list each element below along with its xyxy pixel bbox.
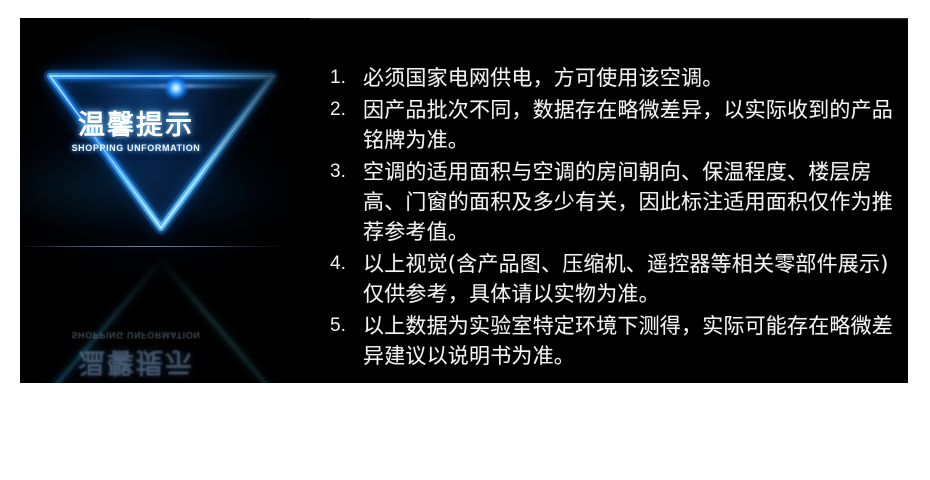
notice-number: 1. <box>325 63 363 93</box>
notice-number: 5. <box>325 311 363 341</box>
notice-text: 因产品批次不同，数据存在略微差异，以实际收到的产品铭牌为准。 <box>363 95 905 155</box>
logo-subtitle: SHOPPING UNFORMATION <box>20 144 310 153</box>
notice-text: 以上视觉(含产品图、压缩机、遥控器等相关零部件展示)仅供参考，具体请以实物为准。 <box>363 249 905 309</box>
notice-text: 必须国家电网供电，方可使用该空调。 <box>363 63 905 93</box>
notice-number: 2. <box>325 95 363 125</box>
notice-number: 4. <box>325 249 363 279</box>
notice-item: 4. 以上视觉(含产品图、压缩机、遥控器等相关零部件展示)仅供参考，具体请以实物… <box>325 249 905 309</box>
page-root: 温馨提示 SHOPPING UNFORMATION <box>0 0 930 480</box>
notice-item: 2. 因产品批次不同，数据存在略微差异，以实际收到的产品铭牌为准。 <box>325 95 905 155</box>
logo-title: 温馨提示 <box>20 112 310 139</box>
notice-item: 3. 空调的适用面积与空调的房间朝向、保温程度、楼层房高、门窗的面积及多少有关，… <box>325 157 905 247</box>
notice-text: 空调的适用面积与空调的房间朝向、保温程度、楼层房高、门窗的面积及多少有关，因此标… <box>363 157 905 247</box>
notice-item: 5. 以上数据为实验室特定环境下测得，实际可能存在略微差异建议以说明书为准。 <box>325 311 905 371</box>
notice-list: 1. 必须国家电网供电，方可使用该空调。 2. 因产品批次不同，数据存在略微差异… <box>325 63 905 373</box>
logo-title-reflection: 温馨提示 <box>20 348 310 375</box>
notice-banner: 温馨提示 SHOPPING UNFORMATION <box>20 18 908 383</box>
notice-text: 以上数据为实验室特定环境下测得，实际可能存在略微差异建议以说明书为准。 <box>363 311 905 371</box>
sparkle-highlight-icon <box>163 75 189 101</box>
logo-subtitle-reflection: SHOPPING UNFORMATION <box>20 330 310 339</box>
logo-artwork-panel: 温馨提示 SHOPPING UNFORMATION <box>20 18 310 383</box>
notice-number: 3. <box>325 157 363 187</box>
notice-item: 1. 必须国家电网供电，方可使用该空调。 <box>325 63 905 93</box>
reflection-floor-line <box>20 246 310 247</box>
